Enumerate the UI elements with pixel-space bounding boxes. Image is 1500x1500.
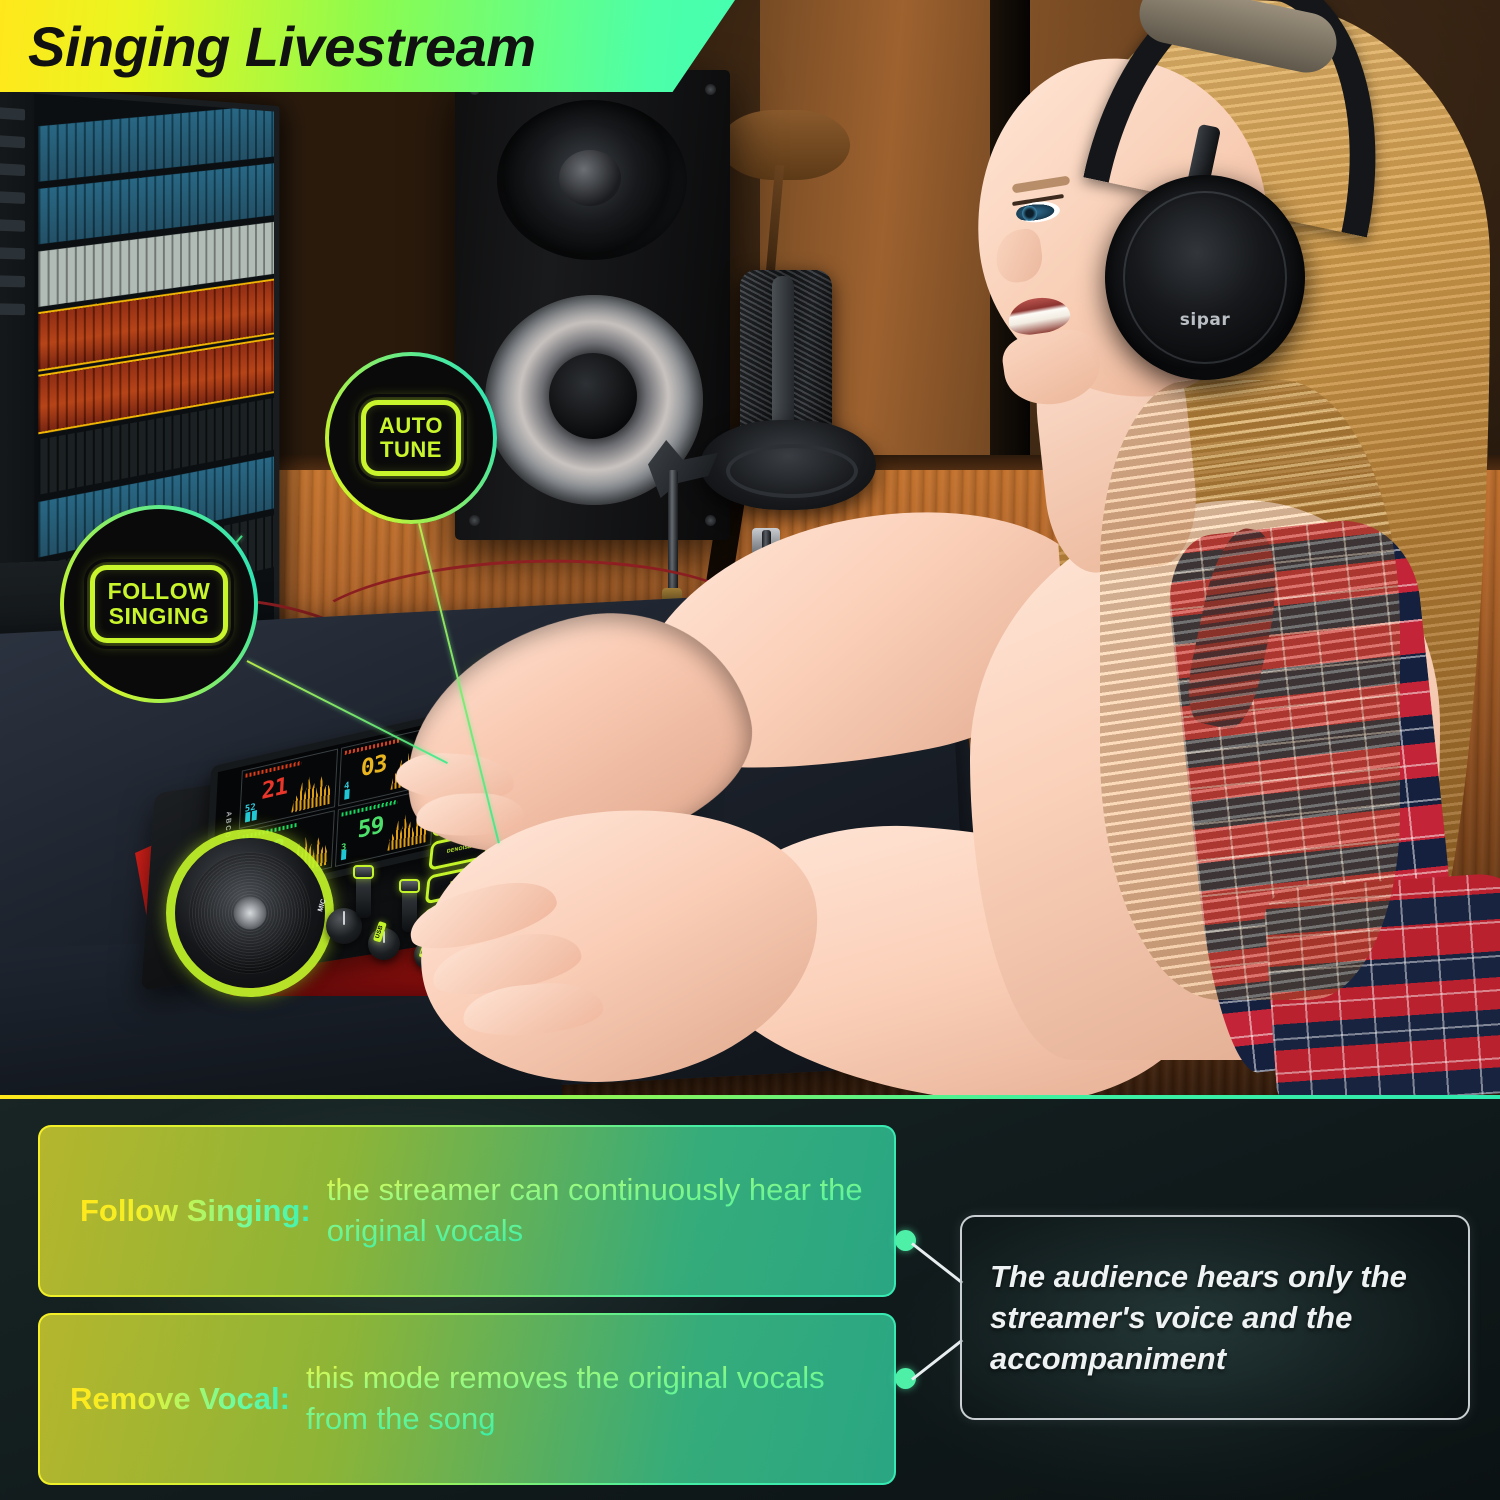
info-card-remove-vocal: Remove Vocal: this mode removes the orig… bbox=[38, 1313, 896, 1485]
hair-strands bbox=[1100, 380, 1400, 1000]
info-card-term: Remove Vocal: bbox=[70, 1381, 290, 1417]
section-divider bbox=[0, 1095, 1500, 1099]
lcd-value: 59 bbox=[357, 811, 384, 843]
connector-line-bottom bbox=[911, 1339, 963, 1381]
lcd-icon: ▮▮ bbox=[244, 806, 258, 823]
page-title: Singing Livestream bbox=[28, 14, 536, 79]
header-banner: Singing Livestream bbox=[0, 0, 735, 92]
badge-line-1: FOLLOW bbox=[108, 578, 211, 604]
badge-line-2: SINGING bbox=[109, 603, 210, 629]
callout-badge-follow-singing[interactable]: FOLLOW SINGING bbox=[60, 505, 258, 703]
badge-plate: AUTO TUNE bbox=[361, 400, 461, 476]
badge-inner: FOLLOW SINGING bbox=[64, 509, 254, 699]
info-card-term: Follow Singing: bbox=[80, 1193, 311, 1229]
fader-mic[interactable] bbox=[356, 872, 371, 918]
jog-wheel-main[interactable] bbox=[175, 838, 325, 988]
info-card-follow-singing: Follow Singing: the streamer can continu… bbox=[38, 1125, 896, 1297]
speaker-tweeter bbox=[497, 100, 687, 260]
badge-inner: AUTO TUNE bbox=[329, 356, 493, 520]
badge-line-2: TUNE bbox=[380, 437, 442, 462]
headphone-brand-logo: sipar bbox=[1180, 310, 1230, 330]
badge-line-1: AUTO bbox=[379, 413, 443, 438]
product-infographic: A B C D E F G H 21 52 ▮▮ 03 4 ▮ bbox=[0, 0, 1500, 1500]
lifestyle-photo: A B C D E F G H 21 52 ▮▮ 03 4 ▮ bbox=[0, 0, 1500, 1095]
badge-plate: FOLLOW SINGING bbox=[90, 565, 229, 643]
connector-dot-top bbox=[895, 1230, 916, 1251]
stool-seat bbox=[720, 110, 850, 180]
callout-badge-auto-tune[interactable]: AUTO TUNE bbox=[325, 352, 497, 524]
lcd-icon: ▮ bbox=[340, 846, 347, 862]
info-card-audience: The audience hears only the streamer's v… bbox=[960, 1215, 1470, 1420]
lcd-icon: ▮ bbox=[343, 785, 350, 801]
lcd-value: 03 bbox=[360, 750, 387, 782]
lcd-value: 21 bbox=[261, 773, 288, 805]
info-card-description: this mode removes the original vocals fr… bbox=[306, 1358, 872, 1440]
connector-line-top bbox=[911, 1242, 963, 1284]
streamer-person: sipar bbox=[900, 0, 1500, 1095]
headphone-earcup: sipar bbox=[1105, 175, 1305, 380]
audience-note-text: The audience hears only the streamer's v… bbox=[990, 1256, 1468, 1380]
volume-knob[interactable] bbox=[368, 928, 400, 960]
microphone-shock-mount bbox=[700, 420, 876, 510]
bracket-connector bbox=[895, 1230, 970, 1390]
info-card-description: the streamer can continuously hear the o… bbox=[327, 1170, 872, 1252]
jog-wheel-center bbox=[234, 897, 267, 930]
